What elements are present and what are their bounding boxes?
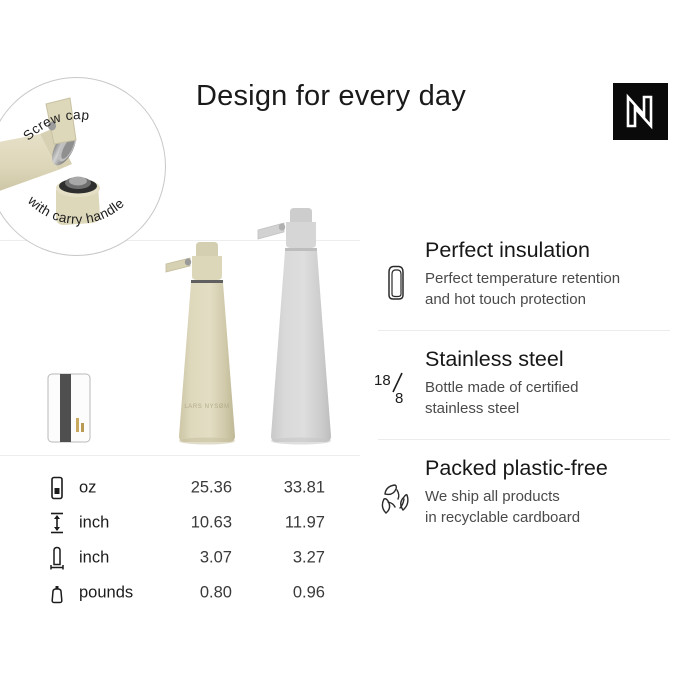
bottle-grey [258, 208, 331, 445]
feature-desc-line1: Bottle made of certified [425, 377, 670, 398]
screw-cap-detail-photo [0, 78, 165, 255]
feature-description: Bottle made of certified stainless steel [425, 377, 670, 420]
feature-desc-line2: in recyclable cardboard [425, 507, 670, 528]
table-row: inch 3.07 3.27 [48, 540, 348, 575]
feature-desc-line2: stainless steel [425, 398, 670, 419]
feature-divider [378, 439, 670, 440]
feature-description: We ship all products in recyclable cardb… [425, 486, 670, 529]
feature-stainless-steel: 18 8 Stainless steel Bottle made of cert… [370, 330, 670, 439]
weight-bottle-icon [48, 581, 66, 605]
table-row: oz 25.36 33.81 [48, 470, 348, 505]
bottle-beige: LARS NYSØM [166, 242, 235, 445]
feature-desc-line2: and hot touch protection [425, 289, 670, 310]
feature-title: Stainless steel [425, 347, 670, 372]
feature-description: Perfect temperature retention and hot to… [425, 268, 670, 311]
recycle-leaves-icon [376, 479, 416, 521]
spec-unit: oz [79, 478, 96, 497]
screw-cap-inset: Screw cap with carry handle [0, 77, 166, 256]
product-infographic: Design for every day [0, 0, 679, 679]
eighteen-eight-ratio-icon: 18 8 [372, 368, 418, 408]
volume-bottle-icon [48, 476, 66, 500]
feature-list: Perfect insulation Perfect temperature r… [370, 238, 670, 548]
spec-value-small: 10.63 [170, 513, 232, 532]
width-bottle-icon [48, 546, 66, 570]
n-monogram-icon [613, 83, 668, 140]
feature-desc-line1: We ship all products [425, 486, 670, 507]
insulated-bottle-icon [376, 262, 416, 304]
spec-table: oz 25.36 33.81 inch 10.63 11.97 i [48, 470, 348, 610]
spec-value-small: 3.07 [170, 548, 232, 567]
feature-packed-plastic-free: Packed plastic-free We ship all products… [370, 439, 670, 548]
spec-unit: inch [79, 513, 109, 532]
spec-unit: inch [79, 548, 109, 567]
bottle-brand-label: LARS NYSØM [184, 404, 229, 410]
ratio-denominator: 8 [395, 390, 403, 407]
feature-title: Perfect insulation [425, 238, 670, 263]
feature-perfect-insulation: Perfect insulation Perfect temperature r… [370, 238, 670, 330]
spec-value-large: 33.81 [263, 478, 325, 497]
height-arrow-icon [48, 511, 66, 535]
spec-unit: pounds [79, 583, 133, 602]
feature-desc-line1: Perfect temperature retention [425, 268, 670, 289]
feature-title: Packed plastic-free [425, 456, 670, 481]
table-row: pounds 0.80 0.96 [48, 575, 348, 610]
spec-value-small: 0.80 [170, 583, 232, 602]
spec-value-small: 25.36 [170, 478, 232, 497]
spec-value-large: 0.96 [263, 583, 325, 602]
spec-value-large: 3.27 [263, 548, 325, 567]
credit-card-reference [48, 374, 90, 442]
brand-logo [613, 83, 668, 140]
ratio-numerator: 18 [374, 372, 391, 389]
table-row: inch 10.63 11.97 [48, 505, 348, 540]
spec-value-large: 11.97 [263, 513, 325, 532]
page-title: Design for every day [196, 80, 466, 113]
feature-divider [378, 330, 670, 331]
